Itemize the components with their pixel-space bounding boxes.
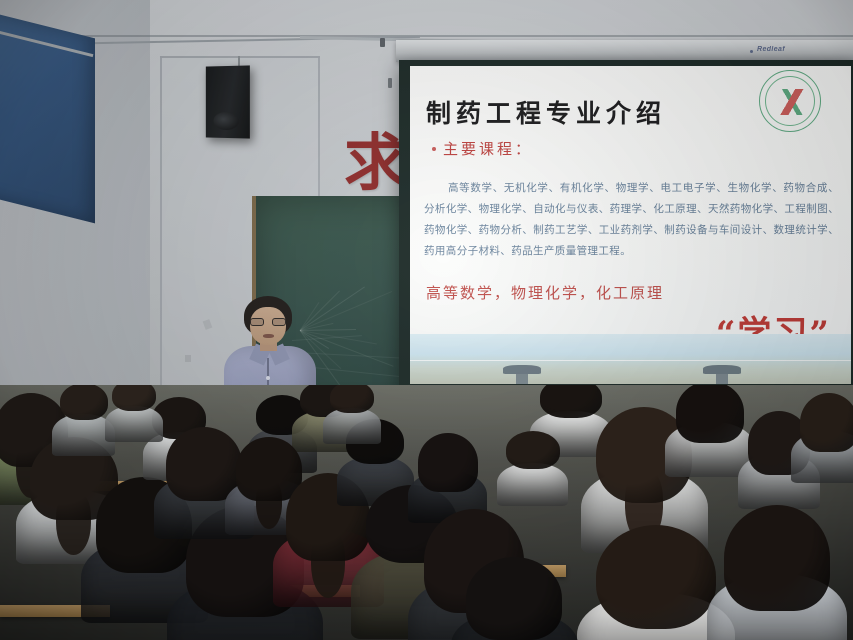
student-head [60,385,108,420]
student-silhouette [506,431,560,493]
tower-canopy [703,365,741,374]
university-seal-logo [759,70,821,132]
classroom-photo-scene: 求 世 Redleaf 制药工程专业介绍 主要课程： 高等数学、无机化学、有机化… [0,0,853,640]
student-head [596,525,716,629]
photo-horizon-line [410,360,851,361]
ceiling-edge-line [0,35,853,37]
student-silhouette [724,505,830,637]
student-silhouette [330,385,374,433]
presentation-slide: 制药工程专业介绍 主要课程： 高等数学、无机化学、有机化学、物理学、电工电子学、… [410,66,851,384]
student-silhouette [418,433,478,507]
brand-dot-icon [750,50,753,53]
lecturer-mouth [263,334,274,338]
tower-leg [516,374,528,384]
slide-body-text: 高等数学、无机化学、有机化学、物理学、电工电子学、生物化学、药物合成、分析化学、… [424,178,839,262]
eyeglasses-icon [250,318,286,326]
student-head [676,385,744,443]
wall-character-left: 求 [344,132,406,194]
tower-canopy [503,365,541,374]
student-head [112,385,156,411]
screen-brand-label: Redleaf [757,46,785,53]
seal-emblem-mark [778,89,804,115]
student-head [724,505,830,611]
student-torso [323,408,381,444]
glasses-lens [272,318,286,326]
conduit-clip [380,38,385,47]
student-head [800,393,853,452]
lecturer-face [250,307,286,345]
student-silhouette [800,393,853,467]
student-torso [105,406,163,442]
slide-highlight-text: 高等数学，物理化学，化工原理 [426,282,664,303]
student-head [506,431,560,469]
speaker-cone [213,112,238,130]
shirt-button [266,376,270,380]
student-audience [0,385,853,640]
student-silhouette [466,557,562,640]
slide-bullet-row: 主要课程： [432,138,533,159]
slide-title: 制药工程专业介绍 [426,94,666,130]
student-head [466,557,562,640]
tower-leg [716,374,728,384]
student-silhouette [112,385,156,431]
conduit-clip [388,78,392,88]
slide-footer-photo [410,334,851,384]
student-silhouette [60,385,108,443]
student-torso [497,463,568,506]
student-head [418,433,478,492]
glasses-lens [250,318,264,326]
bullet-dot-icon [432,147,436,151]
student-silhouette [676,385,744,459]
wall-speaker-icon [206,65,250,138]
wall-scuff-mark [185,355,191,362]
slide-bullet-label: 主要课程： [443,138,533,159]
blue-window-curtain [0,10,95,224]
student-head [330,385,374,413]
student-head [540,385,602,418]
student-silhouette [596,525,716,640]
